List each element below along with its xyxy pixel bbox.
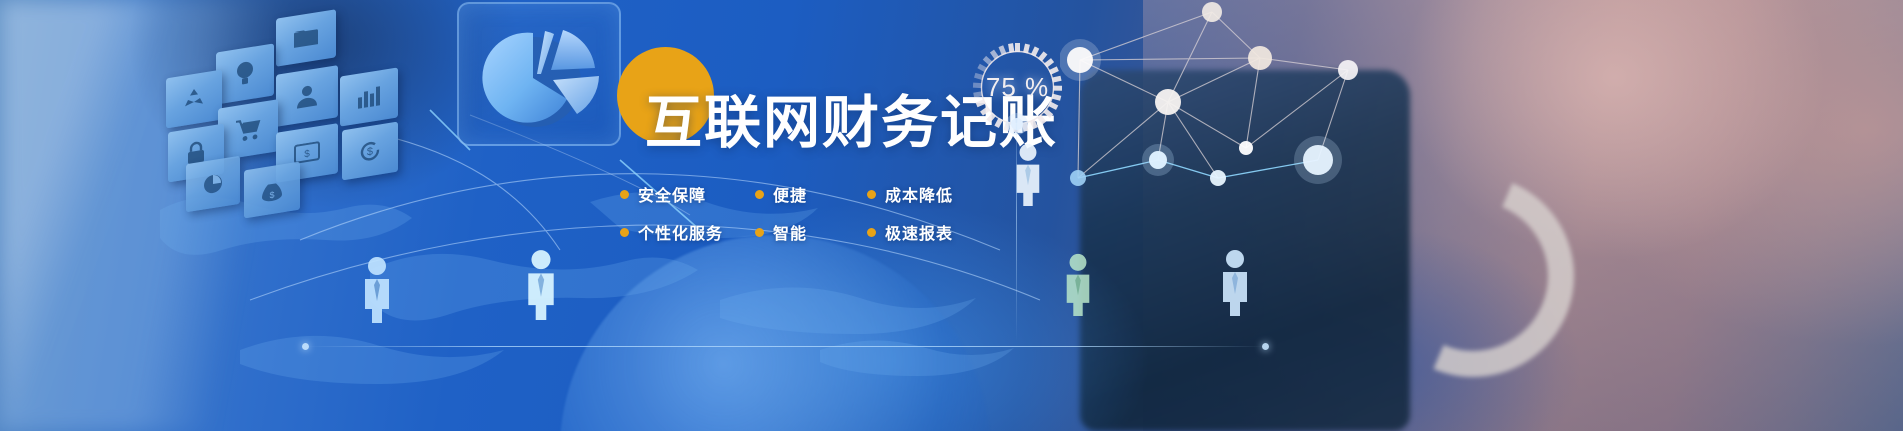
person-icon [523,248,559,320]
svg-text:$: $ [269,190,274,201]
banner: $ $ $ [0,0,1903,431]
feature-label: 个性化服务 [638,220,723,244]
money-bag-icon: $ [261,176,283,203]
lightbulb-icon [234,58,256,89]
cube-pie-chart [186,156,240,213]
bar-chart-icon [357,84,381,110]
feature-label: 极速报表 [885,220,953,244]
cube-refresh-dollar: $ [342,122,398,181]
person-icon [1218,248,1252,316]
feature-item: 便捷 [755,182,867,206]
cube-shopping-cart [218,99,278,161]
user-icon [295,82,319,110]
person-silhouette [523,248,559,320]
feature-label: 智能 [773,220,807,244]
feature-item: 个性化服务 [620,220,755,244]
pie-chart-graphic [459,4,619,144]
svg-text:$: $ [304,149,310,161]
pie-chart-icon [202,171,224,196]
bullet-dot-icon [755,228,764,237]
feature-label: 便捷 [773,182,807,206]
person-silhouette [1062,252,1094,316]
svg-text:$: $ [367,146,373,159]
divider-end-dot [1262,343,1269,350]
shopping-cart-icon [235,116,261,144]
feature-row: 安全保障 便捷 成本降低 [620,182,1000,206]
cube-user [276,65,338,127]
pie-chart-panel [457,2,621,146]
vertical-divider [1016,92,1017,342]
refresh-dollar-icon: $ [358,137,382,165]
person-icon [1062,252,1094,316]
divider-end-dot [302,343,309,350]
gauge-value: 75 % [965,35,1070,140]
cube-money-bag: $ [244,162,300,219]
cube-recycle [166,70,222,129]
recycle-icon [182,85,206,113]
bullet-dot-icon [620,190,629,199]
person-icon [360,255,394,323]
cube-lightbulb [216,43,274,104]
person-silhouette [1218,248,1252,316]
feature-item: 成本降低 [867,182,953,206]
progress-gauge: 75 % [965,35,1070,140]
bullet-dot-icon [867,228,876,237]
bullet-dot-icon [867,190,876,199]
feature-list: 安全保障 便捷 成本降低 个性化服务 智能 极速报表 [620,182,1000,258]
icon-cube-stack: $ $ $ [168,0,418,230]
feature-item: 智能 [755,220,867,244]
feature-label: 成本降低 [885,182,953,206]
bullet-dot-icon [755,190,764,199]
feature-label: 安全保障 [638,182,706,206]
feature-row: 个性化服务 智能 极速报表 [620,220,1000,244]
feature-item: 安全保障 [620,182,755,206]
horizontal-divider [305,346,1265,347]
bullet-dot-icon [620,228,629,237]
folder-icon [293,25,319,51]
cube-folder [276,9,336,67]
person-silhouette [360,255,394,323]
feature-item: 极速报表 [867,220,953,244]
cube-bar-chart [340,67,398,126]
network-graph [1060,0,1390,200]
